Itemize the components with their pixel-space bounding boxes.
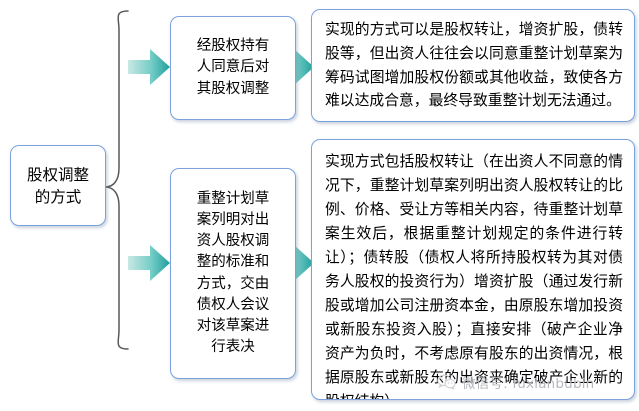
detail-node-2[interactable]: 实现方式包括股权转让（在出资人不同意的情况下，重整计划草案列明出资人股权转让的比…: [311, 139, 635, 400]
branch-node-1[interactable]: 经股权持有 人同意后对 其股权调整: [170, 16, 296, 120]
arrow-root-to-branch-1: [128, 47, 170, 87]
arrow-root-to-branch-2: [128, 243, 170, 283]
branch-node-2[interactable]: 重整计划草 案列明对出 资人股权调 整的标准和 方式，交由 债权人会议 对该草案…: [170, 168, 296, 379]
diagram-canvas: 股权调整 的方式 经股权持有 人同意后对 其股权调整 重整计划草 案列明对出 资…: [0, 0, 639, 411]
detail-node-2-text: 实现方式包括股权转让（在出资人不同意的情况下，重整计划草案列明出资人股权转让的比…: [325, 150, 623, 400]
branch-node-2-label: 重整计划草 案列明对出 资人股权调 整的标准和 方式，交由 债权人会议 对该草案…: [171, 189, 295, 357]
root-node[interactable]: 股权调整 的方式: [10, 145, 106, 226]
detail-node-1-text: 实现的方式可以是股权转让，增资扩股，债转股等，但出资人往往会以同意重整计划草案为…: [325, 18, 623, 114]
detail-node-1[interactable]: 实现的方式可以是股权转让，增资扩股，债转股等，但出资人往往会以同意重整计划草案为…: [311, 9, 635, 122]
root-node-label: 股权调整 的方式: [11, 164, 105, 208]
branch-node-1-label: 经股权持有 人同意后对 其股权调整: [171, 36, 295, 99]
